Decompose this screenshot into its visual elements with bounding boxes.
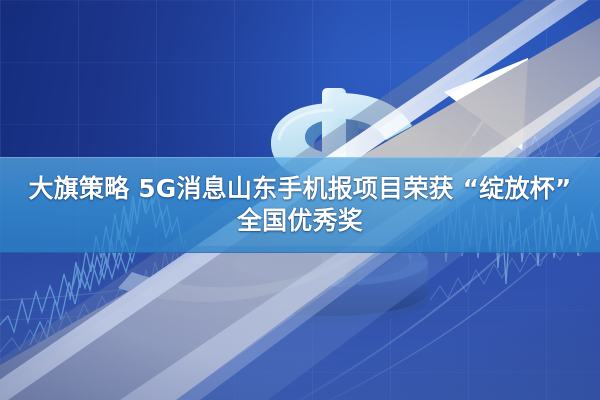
banner-image: 大旗策略 5G消息山东手机报项目荣获 “绽放杯” 全国优秀奖 bbox=[0, 0, 600, 400]
headline-line-1: 大旗策略 5G消息山东手机报项目荣获 “绽放杯” bbox=[29, 174, 572, 205]
headline-line-2: 全国优秀奖 bbox=[237, 206, 363, 237]
page-title: 大旗策略 5G消息山东手机报项目荣获 “绽放杯” 全国优秀奖 bbox=[0, 157, 600, 253]
